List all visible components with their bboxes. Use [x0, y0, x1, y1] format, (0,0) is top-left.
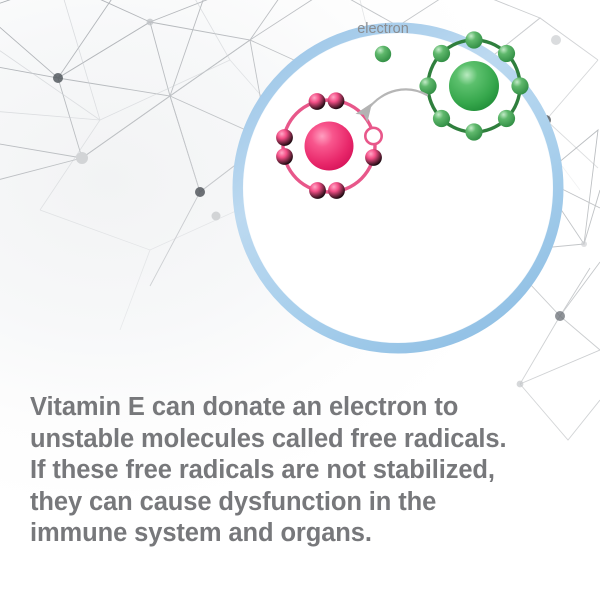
- vitamin-e-electron: [511, 77, 528, 94]
- vitamin-e-electron: [498, 45, 515, 62]
- free-radical-electron: [276, 129, 293, 146]
- free-radical-electron: [328, 92, 345, 109]
- vitamin-e-nucleus: [449, 61, 499, 111]
- molecule-diagram: electron: [231, 21, 565, 355]
- free-electron-dot: [375, 46, 391, 62]
- caption-line-3: If these free radicals are not stabilize…: [30, 455, 575, 487]
- caption-text: Vitamin E can donate an electron to unst…: [30, 392, 575, 550]
- vitamin-e-electron: [465, 31, 482, 48]
- caption-line-1: Vitamin E can donate an electron to: [30, 392, 575, 424]
- free-radical-electron: [276, 148, 293, 165]
- caption-line-5: immune system and organs.: [30, 518, 575, 550]
- free-radical-electron: [328, 182, 345, 199]
- caption-line-4: they can cause dysfunction in the: [30, 487, 575, 519]
- free-radical-electron: [365, 149, 382, 166]
- vitamin-e-electron: [465, 123, 482, 140]
- vitamin-e-electron: [433, 110, 450, 127]
- vitamin-e-electron: [498, 110, 515, 127]
- caption-line-2: unstable molecules called free radicals.: [30, 424, 575, 456]
- vitamin-e-electron: [433, 45, 450, 62]
- free-radical-electron: [309, 182, 326, 199]
- infographic-canvas: electron Vitamin E can donate an electro…: [0, 0, 600, 600]
- vitamin-e-atom: [419, 31, 528, 140]
- free-radical-nucleus: [305, 122, 354, 171]
- electron-label: electron: [357, 21, 409, 37]
- electron-transfer-arrow: [365, 89, 427, 113]
- free-radical-electron-vacancy: [365, 128, 381, 144]
- free-radical-atom: [276, 92, 382, 199]
- free-radical-electron: [309, 93, 326, 110]
